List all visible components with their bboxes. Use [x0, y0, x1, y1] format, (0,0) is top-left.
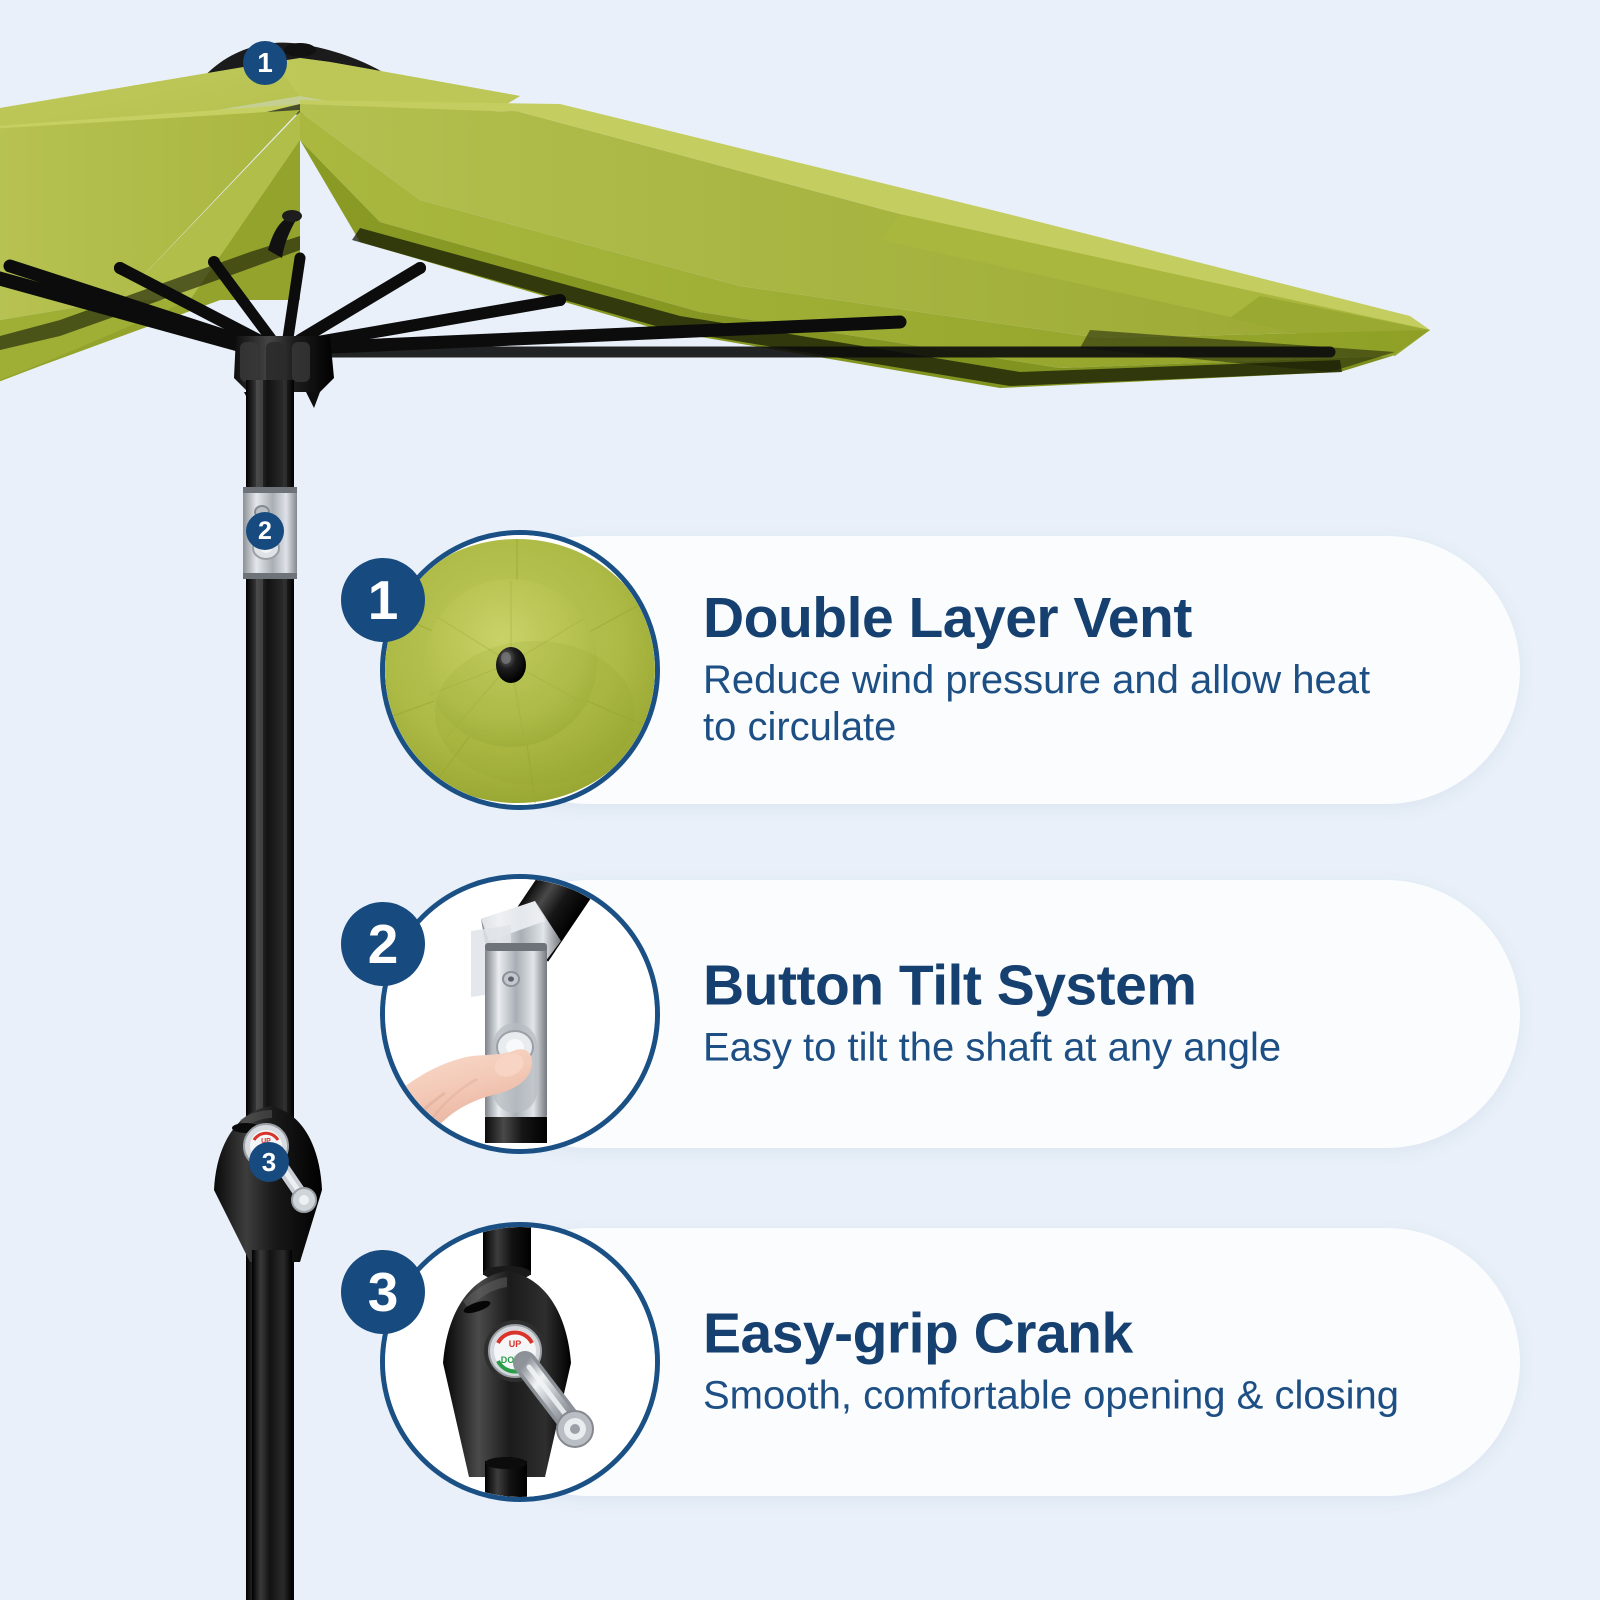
feature-card-list: 1 Double Layer Vent Reduce wind pressure… [0, 0, 1600, 1600]
feature-title-2: Button Tilt System [703, 956, 1480, 1016]
feature-card-easy-grip-crank[interactable]: UP DOWN 3 [455, 1228, 1520, 1496]
feature-title-3: Easy-grip Crank [703, 1304, 1480, 1364]
feature-badge-2: 2 [341, 902, 425, 986]
feature-description-3: Smooth, comfortable opening & closing [703, 1372, 1423, 1419]
feature-badge-3: 3 [341, 1250, 425, 1334]
feature-text-1: Double Layer Vent Reduce wind pressure a… [703, 589, 1480, 751]
infographic-stage: UP DOWN 1 2 3 [0, 0, 1600, 1600]
feature-text-3: Easy-grip Crank Smooth, comfortable open… [703, 1304, 1480, 1419]
feature-title-1: Double Layer Vent [703, 589, 1480, 649]
feature-badge-1: 1 [341, 558, 425, 642]
product-marker-2[interactable]: 2 [246, 512, 284, 550]
feature-text-2: Button Tilt System Easy to tilt the shaf… [703, 956, 1480, 1071]
feature-description-1: Reduce wind pressure and allow heat to c… [703, 657, 1403, 751]
thumbnail-easy-grip-crank: UP DOWN [380, 1222, 660, 1502]
feature-card-double-layer-vent[interactable]: 1 Double Layer Vent Reduce wind pressure… [455, 536, 1520, 804]
crank-up-label: UP [509, 1339, 522, 1349]
product-marker-3[interactable]: 3 [249, 1142, 289, 1182]
product-marker-1[interactable]: 1 [243, 41, 287, 85]
feature-description-2: Easy to tilt the shaft at any angle [703, 1024, 1403, 1071]
feature-card-button-tilt-system[interactable]: 2 Button Tilt System Easy to tilt the sh… [455, 880, 1520, 1148]
thumbnail-double-layer-vent [380, 530, 660, 810]
thumbnail-button-tilt-system [380, 874, 660, 1154]
